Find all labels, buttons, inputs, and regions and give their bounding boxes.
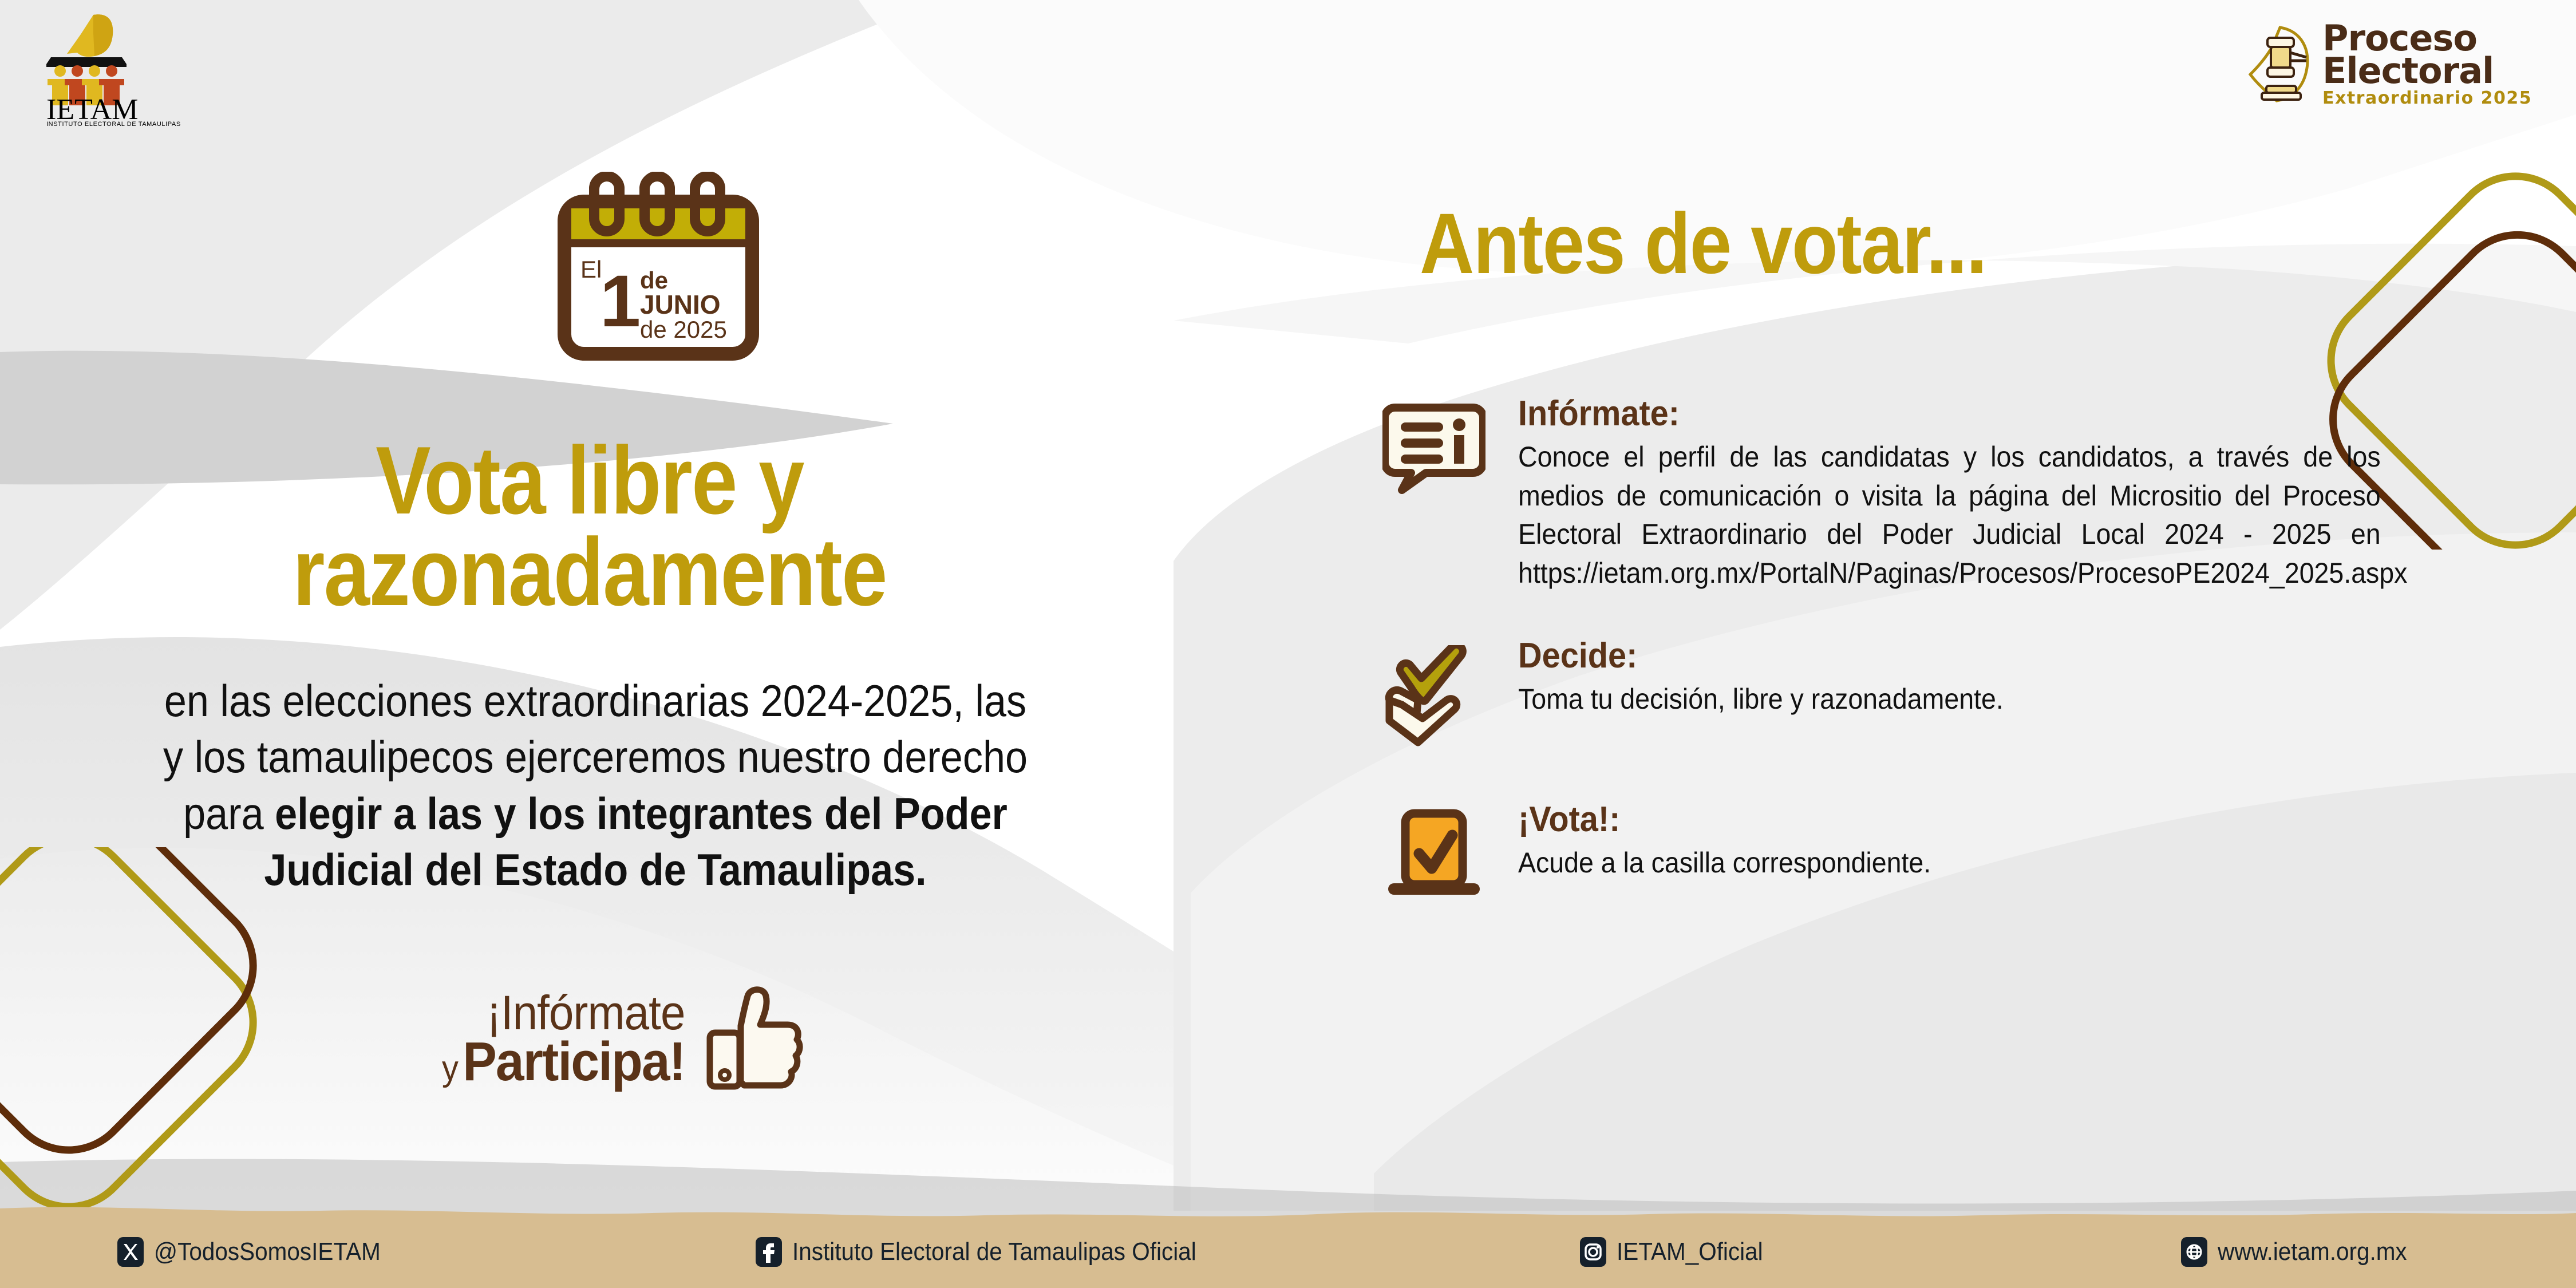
calendar-el: El: [580, 256, 602, 283]
list-item-desc: Toma tu decisión, libre y razonadamente.: [1518, 680, 2381, 719]
poster-root: IETAM INSTITUTO ELECTORAL DE TAMAULIPAS …: [0, 0, 2576, 1288]
right-column: Antes de votar... Infórmate: Con: [1374, 0, 2576, 1214]
footer-item-x[interactable]: @TodosSomosIETAM: [117, 1237, 400, 1267]
list-item-desc: Acude a la casilla correspondiente.: [1518, 844, 2381, 883]
list-item-desc: Conoce el perfil de las candidatas y los…: [1518, 438, 2381, 592]
footer-item-facebook[interactable]: Instituto Electoral de Tamaulipas Oficia…: [756, 1237, 1231, 1267]
participa-line1: ¡Infórmate: [487, 990, 685, 1036]
ballot-box-check-icon: [1374, 801, 1494, 900]
footer-label: IETAM_Oficial: [1617, 1238, 1763, 1266]
list-item: ¡Vota!: Acude a la casilla correspondien…: [1374, 801, 2576, 900]
footer-label: Instituto Electoral de Tamaulipas Oficia…: [792, 1238, 1196, 1266]
hand-check-icon: [1374, 637, 1494, 748]
list-item-title: Decide:: [1518, 637, 2486, 674]
calendar-month: JUNIO: [640, 290, 721, 319]
speech-bubble-info-icon: [1374, 395, 1494, 495]
footer-label: www.ietam.org.mx: [2218, 1238, 2407, 1266]
participa-y: y: [442, 1052, 457, 1086]
footer-item-instagram[interactable]: IETAM_Oficial: [1580, 1237, 1776, 1267]
calendar-day: 1: [600, 260, 641, 342]
list-item: Infórmate: Conoce el perfil de las candi…: [1374, 395, 2576, 592]
list-item-title: ¡Vota!:: [1518, 801, 2486, 838]
left-paragraph: en las elecciones extraordinarias 2024-2…: [157, 673, 1033, 898]
participa-line2: Participa!: [463, 1036, 685, 1088]
steps-list: Infórmate: Conoce el perfil de las candi…: [1374, 395, 2576, 920]
thumbs-up-icon: [702, 985, 805, 1093]
facebook-icon: [756, 1237, 782, 1267]
right-headline: Antes de votar...: [1420, 200, 2326, 286]
left-headline-line2: razonadamente: [82, 527, 1097, 618]
list-item: Decide: Toma tu decisión, libre y razona…: [1374, 637, 2576, 748]
x-twitter-icon: [117, 1237, 144, 1267]
left-paragraph-bold: elegir a las y los integrantes del Poder…: [264, 788, 1008, 895]
left-headline: Vota libre y razonadamente: [82, 435, 1097, 618]
calendar-de2: de 2025: [640, 316, 727, 343]
globe-icon: [2181, 1237, 2207, 1267]
footer-item-website[interactable]: www.ietam.org.mx: [2181, 1237, 2423, 1267]
footer-bar: @TodosSomosIETAM Instituto Electoral de …: [0, 1216, 2576, 1288]
list-item-title: Infórmate:: [1518, 395, 2486, 432]
footer-label: @TodosSomosIETAM: [154, 1238, 381, 1266]
informate-participa-block: ¡Infórmate y Participa!: [424, 973, 939, 1105]
left-column: El 1 de JUNIO de 2025 Vota libre y razon…: [0, 0, 1299, 1214]
instagram-icon: [1580, 1237, 1606, 1267]
calendar-icon: El 1 de JUNIO de 2025: [550, 172, 767, 361]
